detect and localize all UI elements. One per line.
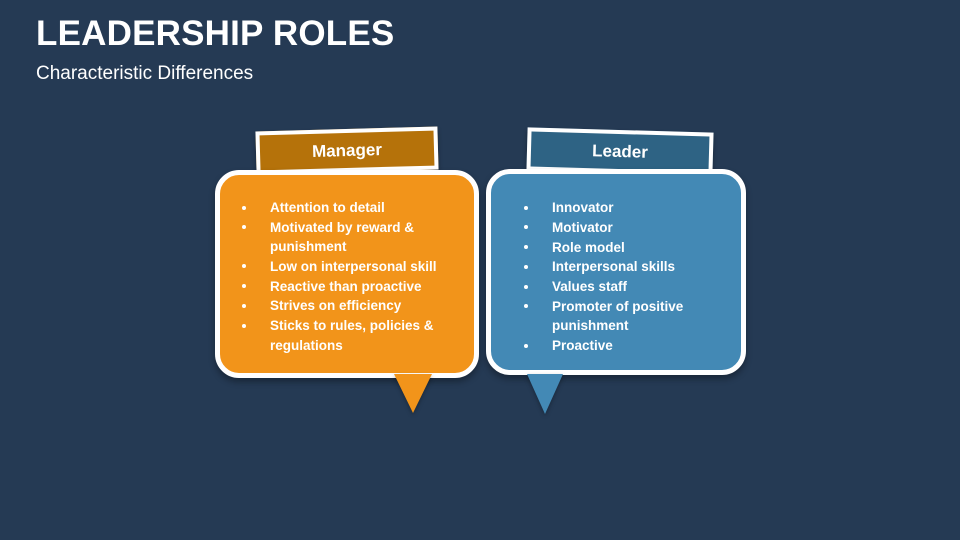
list-item: Interpersonal skills <box>522 257 737 276</box>
list-item-label: Motivated by reward & punishment <box>270 220 414 254</box>
manager-header-label: Manager <box>312 140 382 162</box>
bullet-dot-icon <box>524 265 528 269</box>
list-item-label: Motivator <box>552 220 613 235</box>
list-item: Promoter of positive punishment <box>522 297 737 336</box>
list-item: Reactive than proactive <box>240 277 458 296</box>
page-title: LEADERSHIP ROLES <box>36 14 736 54</box>
leader-header-label: Leader <box>592 141 648 163</box>
list-item-label: Reactive than proactive <box>270 279 422 294</box>
bullet-dot-icon <box>242 225 246 229</box>
slide-canvas: LEADERSHIP ROLES Characteristic Differen… <box>0 0 960 540</box>
list-item: Strives on efficiency <box>240 296 458 315</box>
bullet-dot-icon <box>524 344 528 348</box>
manager-header-plate: Manager <box>255 126 438 174</box>
list-item-label: Proactive <box>552 338 613 353</box>
bullet-dot-icon <box>524 304 528 308</box>
list-item: Values staff <box>522 277 737 296</box>
bullet-dot-icon <box>524 285 528 289</box>
bullet-dot-icon <box>524 245 528 249</box>
list-item-label: Values staff <box>552 279 627 294</box>
list-item-label: Sticks to rules, policies & regulations <box>270 318 434 352</box>
list-item-label: Promoter of positive punishment <box>552 299 683 333</box>
page-subtitle: Characteristic Differences <box>36 61 736 87</box>
list-item: Low on interpersonal skill <box>240 257 458 276</box>
bullet-dot-icon <box>242 264 246 268</box>
list-item: Motivated by reward & punishment <box>240 218 458 257</box>
manager-callout-tail <box>394 374 432 413</box>
list-item: Proactive <box>522 336 737 355</box>
list-item-label: Attention to detail <box>270 200 385 215</box>
list-item: Motivator <box>522 218 737 237</box>
list-item-label: Low on interpersonal skill <box>270 259 437 274</box>
list-item-label: Strives on efficiency <box>270 298 401 313</box>
list-item-label: Innovator <box>552 200 614 215</box>
list-item-label: Interpersonal skills <box>552 259 675 274</box>
list-item: Innovator <box>522 198 737 217</box>
manager-bullet-list: Attention to detail Motivated by reward … <box>240 198 458 355</box>
list-item: Role model <box>522 238 737 257</box>
bullet-dot-icon <box>242 284 246 288</box>
leader-callout-tail <box>527 374 563 414</box>
list-item-label: Role model <box>552 240 625 255</box>
bullet-dot-icon <box>524 225 528 229</box>
bullet-dot-icon <box>242 206 246 210</box>
bullet-dot-icon <box>524 206 528 210</box>
bullet-dot-icon <box>242 304 246 308</box>
bullet-dot-icon <box>242 324 246 328</box>
list-item: Attention to detail <box>240 198 458 217</box>
list-item: Sticks to rules, policies & regulations <box>240 316 458 355</box>
title-block: LEADERSHIP ROLES Characteristic Differen… <box>36 14 736 87</box>
leader-bullet-list: Innovator Motivator Role model Interpers… <box>522 198 737 356</box>
